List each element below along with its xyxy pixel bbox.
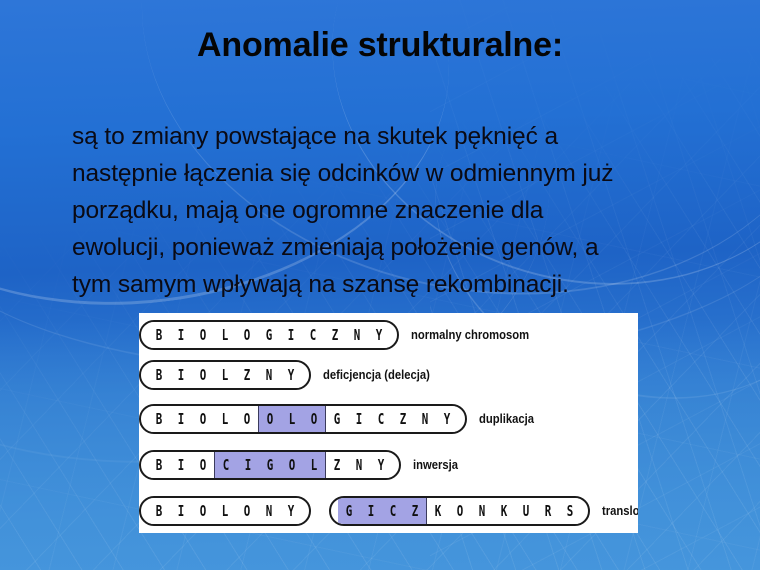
- chromosome-letter: Y: [371, 326, 387, 344]
- chromosome-segment: BIOLONY: [148, 498, 302, 524]
- row-caption: deficjencja (delecja): [323, 368, 430, 382]
- chromosome-segment-highlighted: OLO: [258, 406, 326, 432]
- chromosome-letter: I: [173, 410, 189, 428]
- chromosome-letter: I: [173, 456, 189, 474]
- chromosome: BIOLONY: [139, 496, 311, 526]
- chromosome-row: BIOLZNYdeficjencja (delecja): [139, 359, 442, 391]
- chromosome-letter: O: [195, 502, 211, 520]
- chromosome-letter: O: [195, 410, 211, 428]
- chromosome-segment-highlighted: CIGOL: [214, 452, 326, 478]
- chromosome-letter: O: [239, 502, 255, 520]
- chromosome-letter: I: [173, 502, 189, 520]
- chromosome-letter: Z: [395, 410, 411, 428]
- chromosome-letter: C: [218, 456, 234, 474]
- chromosome-letter: N: [261, 502, 277, 520]
- slide-body-text: są to zmiany powstające na skutek pęknię…: [72, 118, 632, 303]
- chromosome-letter: B: [151, 456, 167, 474]
- chromosome-letter: L: [217, 410, 233, 428]
- chromosome-segment: ZNY: [326, 452, 392, 478]
- row-caption: normalny chromosom: [411, 328, 529, 342]
- chromosome-letter: R: [540, 502, 556, 520]
- chromosome-letter: I: [351, 410, 367, 428]
- chromosome-letter: Y: [283, 366, 299, 384]
- chromosome-letter: Y: [439, 410, 455, 428]
- chromosome-letter: O: [195, 456, 211, 474]
- chromosome-letter: C: [385, 502, 401, 520]
- chromosome-letter: Z: [327, 326, 343, 344]
- chromosome-segment: BIOLZNY: [148, 362, 302, 388]
- chromosome-letter: K: [430, 502, 446, 520]
- chromosome-letter: C: [373, 410, 389, 428]
- chromosome-segment: KONKURS: [427, 498, 581, 524]
- chromosome-letter: U: [518, 502, 534, 520]
- chromosome-letter: O: [195, 366, 211, 384]
- chromosome-letter: I: [283, 326, 299, 344]
- row-caption: duplikacja: [479, 412, 534, 426]
- chromosome-letter: I: [173, 366, 189, 384]
- chromosome-segment: BIO: [148, 452, 214, 478]
- chromosome-letter: K: [496, 502, 512, 520]
- chromosome-letter: Y: [283, 502, 299, 520]
- chromosome-letter: Z: [329, 456, 345, 474]
- chromosome-letter: L: [217, 502, 233, 520]
- chromosome-letter: N: [474, 502, 490, 520]
- chromosome-letter: L: [284, 410, 300, 428]
- slide-title: Anomalie strukturalne:: [0, 26, 760, 65]
- chromosome-segment: GICZNY: [326, 406, 458, 432]
- chromosome-letter: O: [306, 410, 322, 428]
- chromosome-letter: B: [151, 502, 167, 520]
- chromosome-letter: L: [217, 366, 233, 384]
- chromosome-letter: B: [151, 366, 167, 384]
- chromosome-letter: I: [363, 502, 379, 520]
- chromosome-letter: B: [151, 410, 167, 428]
- chromosome-row: BIOLOGICZNYnormalny chromosom: [139, 319, 542, 351]
- row-caption: inwersja: [413, 458, 458, 472]
- chromosome-letter: N: [417, 410, 433, 428]
- presentation-slide: Anomalie strukturalne: są to zmiany pows…: [0, 0, 760, 570]
- chromosome-letter: O: [239, 410, 255, 428]
- chromosome-letter: N: [349, 326, 365, 344]
- chromosome-letter: N: [351, 456, 367, 474]
- chromosome-segment: BIOLOGICZNY: [148, 322, 390, 348]
- chromosome-row: BIOLONYGICZKONKURStranslokacja: [139, 495, 638, 527]
- chromosome-letter: Y: [373, 456, 389, 474]
- chromosome-letter: N: [261, 366, 277, 384]
- chromosome-letter: G: [261, 326, 277, 344]
- chromosome-letter: Z: [239, 366, 255, 384]
- chromosome-letter: O: [262, 410, 278, 428]
- chromosome-letter: O: [195, 326, 211, 344]
- chromosome-letter: C: [305, 326, 321, 344]
- chromosome: BIOLZNY: [139, 360, 311, 390]
- chromosome-letter: G: [341, 502, 357, 520]
- chromosome-letter: I: [240, 456, 256, 474]
- chromosome-letter: G: [262, 456, 278, 474]
- chromosome-row: BIOLOOLOGICZNYduplikacja: [139, 403, 540, 435]
- chromosome-letter: O: [239, 326, 255, 344]
- chromosome: BIOLOOLOGICZNY: [139, 404, 467, 434]
- chromosome-letter: O: [284, 456, 300, 474]
- chromosome-row: BIOCIGOLZNYinwersja: [139, 449, 463, 481]
- chromosome-anomaly-diagram: BIOLOGICZNYnormalny chromosomBIOLZNYdefi…: [139, 313, 638, 533]
- chromosome-letter: L: [306, 456, 322, 474]
- chromosome-letter: S: [562, 502, 578, 520]
- chromosome-letter: G: [329, 410, 345, 428]
- chromosome: BIOCIGOLZNY: [139, 450, 401, 480]
- chromosome-letter: Z: [407, 502, 423, 520]
- chromosome: BIOLOGICZNY: [139, 320, 399, 350]
- chromosome-segment: BIOLO: [148, 406, 258, 432]
- chromosome-segment-highlighted: GICZ: [338, 498, 427, 524]
- chromosome: GICZKONKURS: [329, 496, 590, 526]
- row-caption: translokacja: [602, 504, 638, 518]
- chromosome-letter: B: [151, 326, 167, 344]
- chromosome-letter: I: [173, 326, 189, 344]
- chromosome-letter: O: [452, 502, 468, 520]
- chromosome-letter: L: [217, 326, 233, 344]
